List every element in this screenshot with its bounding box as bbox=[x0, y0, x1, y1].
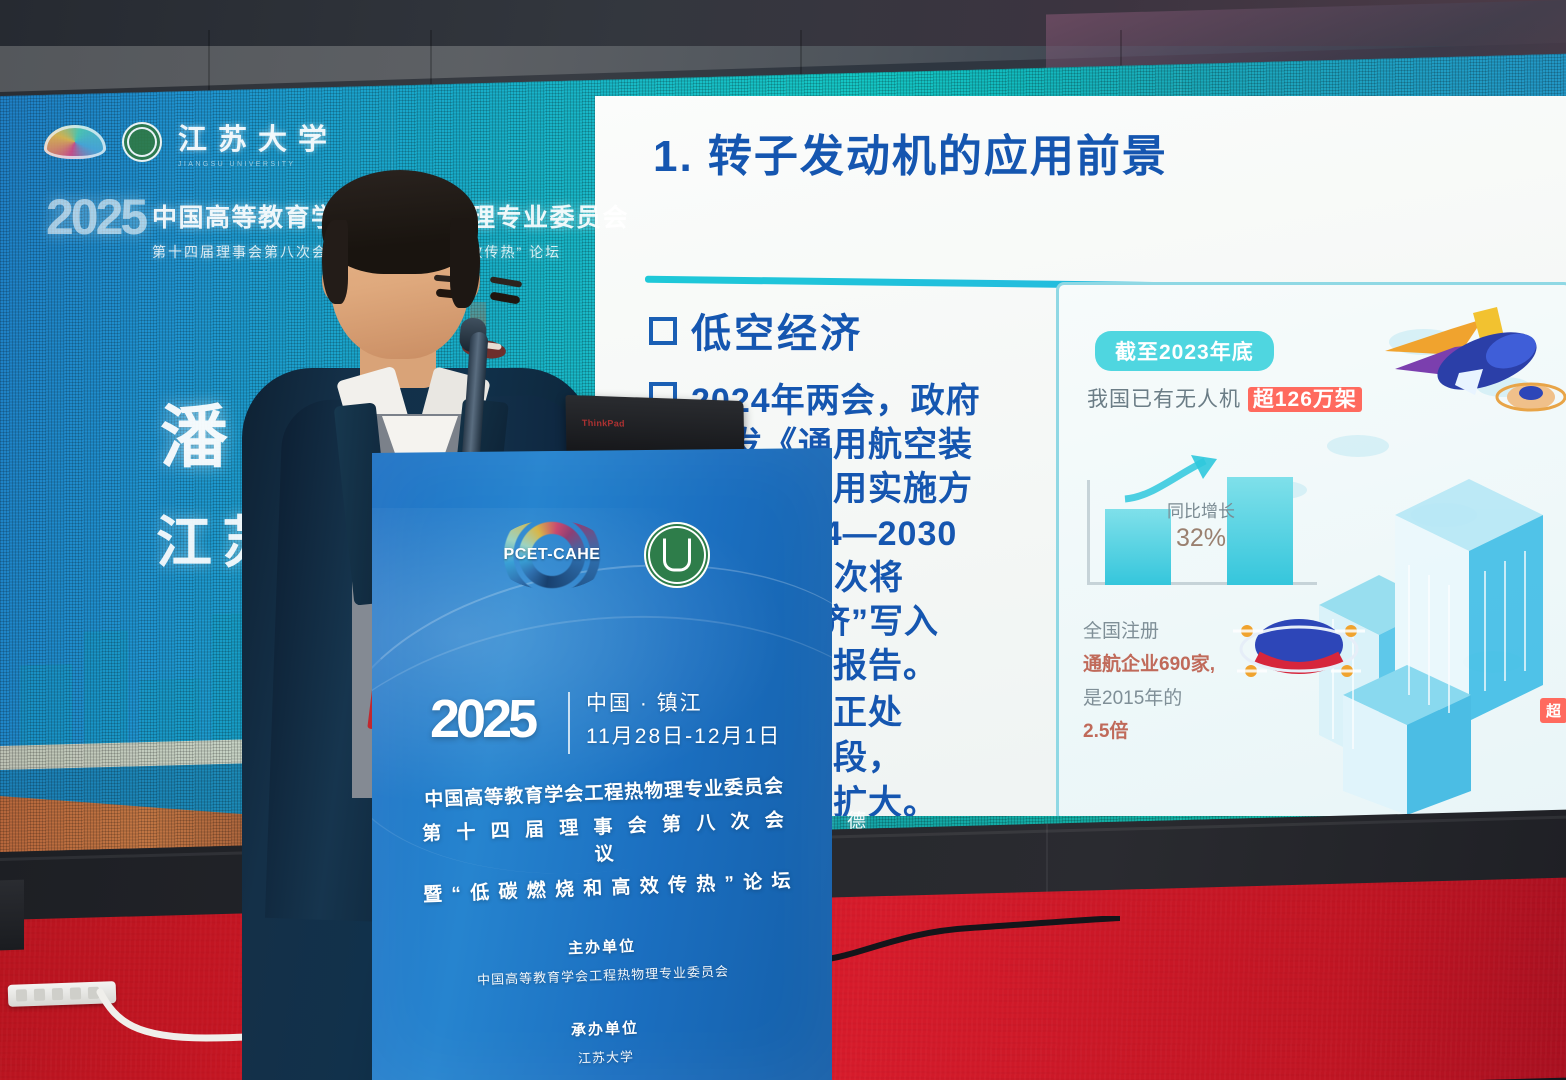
infographic-stats: 全国注册 通航企业690家, 是2015年的 2.5倍 bbox=[1083, 615, 1215, 748]
pcet-cahe-logo-text: PCET-CAHE bbox=[494, 546, 610, 564]
infographic-corner-badge: 超 bbox=[1540, 698, 1566, 723]
podium-location-dates: 中国 · 镇江 11月28日-12月1日 bbox=[586, 688, 781, 753]
podium-conference-title: 中国高等教育学会工程热物理专业委员会 第 十 四 届 理 事 会 第 八 次 会… bbox=[414, 771, 798, 907]
drone-illustration bbox=[1229, 601, 1369, 693]
slide-bullet-1: 低空经济 bbox=[649, 301, 863, 359]
credit-heading: 承办单位 bbox=[415, 1011, 796, 1045]
credit-body: 中国高等教育学会工程热物理专业委员会 bbox=[413, 958, 793, 990]
university-seal-icon bbox=[122, 122, 162, 162]
podium: PCET-CAHE 2025 中国 · 镇江 11月28日-12月1日 中国高等… bbox=[372, 448, 832, 1080]
black-cable bbox=[820, 916, 1120, 966]
infographic-yoy: 同比增长 32% bbox=[1167, 497, 1235, 553]
infographic-date-pill: 截至2023年底 bbox=[1095, 331, 1274, 371]
infographic-line1-prefix: 我国已有无人机 bbox=[1087, 388, 1241, 411]
podium-logos: PCET-CAHE bbox=[372, 520, 832, 590]
cahe-logo-icon bbox=[44, 125, 106, 159]
slide-bullet-1-text: 低空经济 bbox=[691, 312, 863, 356]
infographic-yoy-label: 同比增长 bbox=[1167, 502, 1235, 521]
podium-conf-line2: 第 十 四 届 理 事 会 第 八 次 会 议 bbox=[415, 805, 797, 874]
laptop-brand-label: ThinkPad bbox=[582, 418, 625, 429]
infographic-card: 截至2023年底 我国已有无人机 超126万架 同比增长 32% bbox=[1056, 282, 1566, 816]
credit-body: 江苏大学 bbox=[416, 1040, 796, 1072]
backdrop-speaker-name: 潘 bbox=[160, 382, 240, 481]
podium-dates: 11月28日-12月1日 bbox=[586, 721, 781, 754]
stat-line-2: 是2015年的 bbox=[1083, 682, 1215, 715]
credit-group: 承办单位 江苏大学 bbox=[415, 1011, 796, 1072]
podium-location: 中国 · 镇江 bbox=[586, 688, 781, 721]
slide-title: 1. 转子发动机的应用前景 bbox=[653, 120, 1168, 184]
infographic-yoy-value: 32% bbox=[1167, 524, 1235, 553]
jiangsu-university-seal-icon bbox=[644, 522, 710, 588]
bar-2022 bbox=[1105, 509, 1171, 585]
stat-line-1: 通航企业690家, bbox=[1083, 648, 1215, 681]
backdrop-university-name: 江苏大学 bbox=[178, 116, 338, 158]
stat-line-0: 全国注册 bbox=[1083, 615, 1215, 648]
pcet-cahe-logo-icon: PCET-CAHE bbox=[494, 520, 610, 590]
backdrop-year: 2025 bbox=[46, 188, 145, 246]
backdrop-logos: 江苏大学 JIANGSU UNIVERSITY bbox=[44, 116, 338, 168]
podium-year: 2025 bbox=[430, 688, 534, 750]
stat-line-3: 2.5倍 bbox=[1083, 715, 1215, 748]
drone-small-illustration bbox=[1487, 367, 1566, 425]
backdrop-university-subtitle: JIANGSU UNIVERSITY bbox=[178, 161, 338, 168]
bullet-square-icon bbox=[649, 317, 677, 345]
podium-credits: 主办单位 中国高等教育学会工程热物理专业委员会 承办单位 江苏大学 赞助单位 无… bbox=[412, 929, 800, 1080]
podium-divider bbox=[568, 692, 570, 754]
conference-photo-scene: 江苏大学 JIANGSU UNIVERSITY 2025 中国高等教育学会工程热… bbox=[0, 0, 1566, 1080]
